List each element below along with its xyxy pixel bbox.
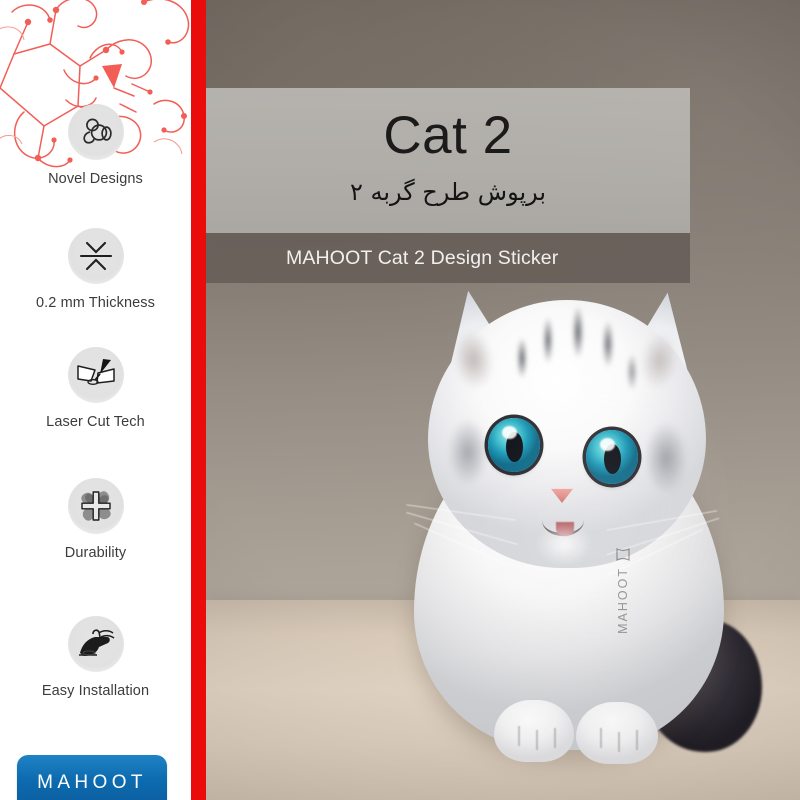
- red-accent-divider: [191, 0, 206, 800]
- feature-icon-badge: [68, 616, 124, 672]
- mahoot-logo-text: MAHOOT: [37, 772, 147, 794]
- features-sidebar: Novel Designs 0.2 mm Thickness: [0, 0, 191, 800]
- feature-label: Novel Designs: [0, 171, 191, 187]
- feature-laser-cut: Laser Cut Tech: [0, 347, 191, 430]
- product-banner: Novel Designs 0.2 mm Thickness: [0, 0, 800, 800]
- four-leaf-clover-icon: [76, 486, 116, 526]
- title-banner: Cat 2 برپوش طرح گربه ۲: [206, 88, 690, 233]
- mahoot-logo[interactable]: MAHOOT: [17, 755, 167, 800]
- product-subtitle: MAHOOT Cat 2 Design Sticker: [206, 247, 558, 270]
- feature-icon-badge: [68, 104, 124, 160]
- laser-cutter-icon: [75, 357, 117, 393]
- feature-label: Durability: [0, 545, 191, 561]
- feature-label: 0.2 mm Thickness: [0, 295, 191, 311]
- feature-label: Easy Installation: [0, 683, 191, 699]
- feature-label: Laser Cut Tech: [0, 414, 191, 430]
- photo-watermark: MAHOOT: [610, 548, 636, 658]
- product-title: Cat 2: [383, 109, 512, 162]
- feature-icon-badge: [68, 347, 124, 403]
- subtitle-banner: MAHOOT Cat 2 Design Sticker: [206, 233, 690, 283]
- feature-novel-designs: Novel Designs: [0, 104, 191, 187]
- product-photo: Cat 2 برپوش طرح گربه ۲ MAHOOT Cat 2 Desi…: [206, 0, 800, 800]
- thickness-arrows-icon: [76, 238, 116, 274]
- feature-durability: Durability: [0, 478, 191, 561]
- hand-peel-sticker-icon: [75, 627, 117, 661]
- feature-easy-installation: Easy Installation: [0, 616, 191, 699]
- palette-circles-icon: [77, 113, 115, 151]
- feature-thickness: 0.2 mm Thickness: [0, 228, 191, 311]
- feature-icon-badge: [68, 478, 124, 534]
- product-title-fa: برپوش طرح گربه ۲: [350, 178, 546, 206]
- watermark-text: MAHOOT: [616, 567, 630, 634]
- feature-icon-badge: [68, 228, 124, 284]
- mahoot-mark-icon: [615, 548, 631, 561]
